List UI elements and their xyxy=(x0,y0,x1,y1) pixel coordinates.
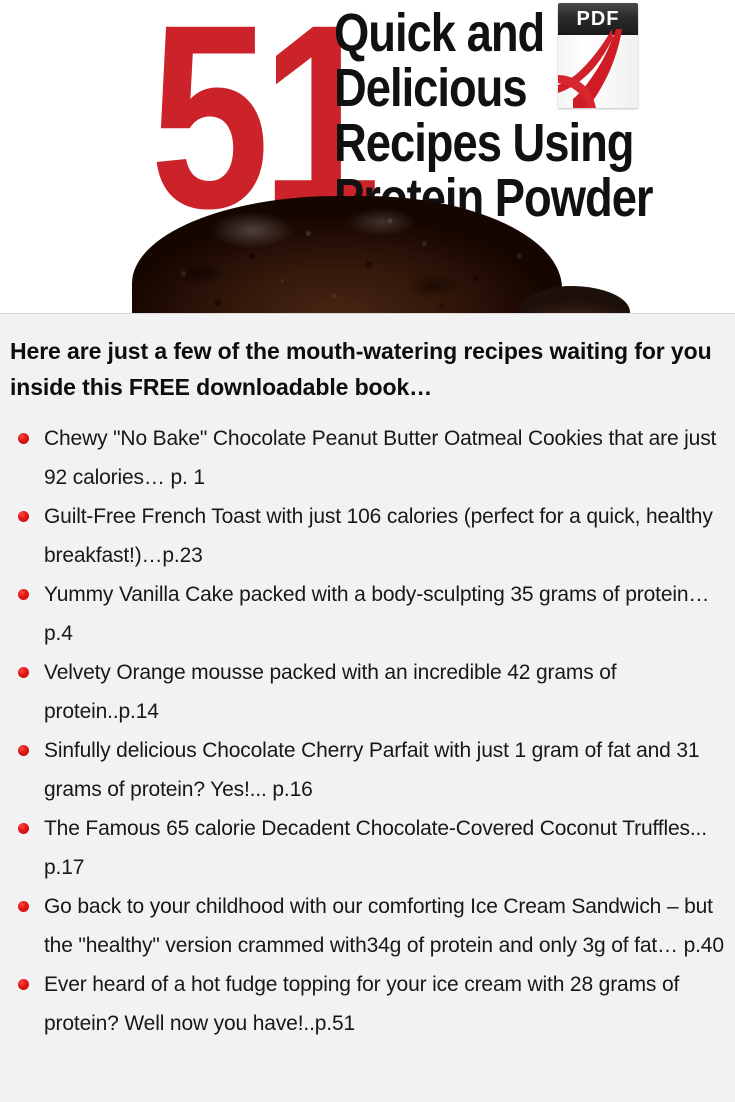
acrobat-swoosh-icon xyxy=(558,29,638,108)
list-item-text: The Famous 65 calorie Decadent Chocolate… xyxy=(44,817,707,879)
pdf-icon: PDF xyxy=(558,3,638,108)
panel-lede-text: Here are just a few of the mouth-waterin… xyxy=(10,333,726,405)
cover-title-line-3: Recipes Using xyxy=(334,116,586,171)
list-item: The Famous 65 calorie Decadent Chocolate… xyxy=(0,809,735,887)
cover-title-line-2: Delicious xyxy=(334,61,586,116)
bullet-dot-icon xyxy=(18,433,29,444)
bullet-dot-icon xyxy=(18,979,29,990)
bullet-dot-icon xyxy=(18,667,29,678)
recipe-list-panel: Here are just a few of the mouth-waterin… xyxy=(0,313,735,1102)
list-item-text: Velvety Orange mousse packed with an inc… xyxy=(44,661,616,723)
list-item: Velvety Orange mousse packed with an inc… xyxy=(0,653,735,731)
list-item: Sinfully delicious Chocolate Cherry Parf… xyxy=(0,731,735,809)
list-item-text: Guilt-Free French Toast with just 106 ca… xyxy=(44,505,713,567)
book-cover-hero: 51 Quick and Delicious Recipes Using Pro… xyxy=(0,0,735,313)
list-item-text: Ever heard of a hot fudge topping for yo… xyxy=(44,973,679,1035)
list-item: Go back to your childhood with our comfo… xyxy=(0,887,735,965)
list-item: Ever heard of a hot fudge topping for yo… xyxy=(0,965,735,1043)
bullet-dot-icon xyxy=(18,745,29,756)
list-item-text: Sinfully delicious Chocolate Cherry Parf… xyxy=(44,739,699,801)
list-item-text: Go back to your childhood with our comfo… xyxy=(44,895,724,957)
bullet-dot-icon xyxy=(18,511,29,522)
cover-title-line-1: Quick and xyxy=(334,6,586,61)
list-item: Yummy Vanilla Cake packed with a body-sc… xyxy=(0,575,735,653)
pdf-icon-label: PDF xyxy=(577,9,620,29)
list-item: Guilt-Free French Toast with just 106 ca… xyxy=(0,497,735,575)
list-item-text: Yummy Vanilla Cake packed with a body-sc… xyxy=(44,583,709,645)
promo-page: 51 Quick and Delicious Recipes Using Pro… xyxy=(0,0,735,1102)
bullet-dot-icon xyxy=(18,901,29,912)
list-item: Chewy "No Bake" Chocolate Peanut Butter … xyxy=(0,419,735,497)
list-item-text: Chewy "No Bake" Chocolate Peanut Butter … xyxy=(44,427,716,489)
bullet-dot-icon xyxy=(18,823,29,834)
recipe-list: Chewy "No Bake" Chocolate Peanut Butter … xyxy=(0,419,735,1043)
bullet-dot-icon xyxy=(18,589,29,600)
